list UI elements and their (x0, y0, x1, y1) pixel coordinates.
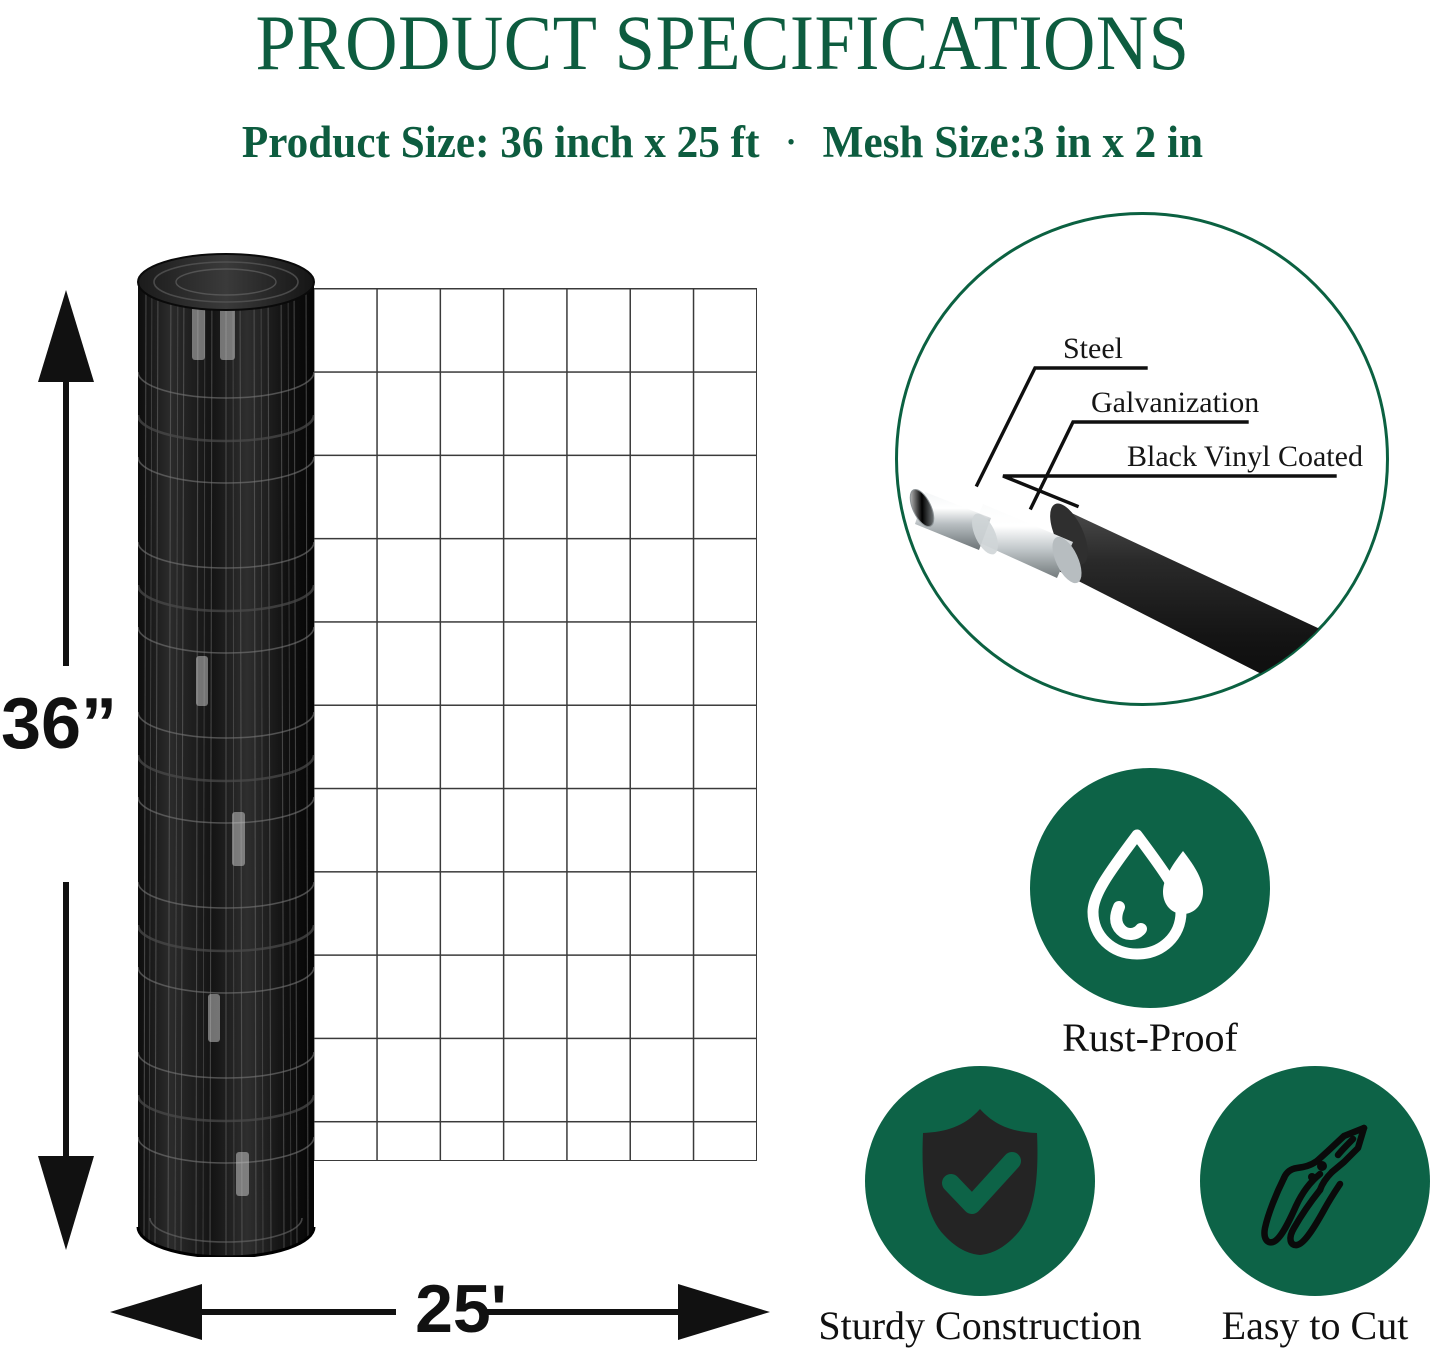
height-dimension-label: 36” (0, 686, 118, 762)
cutaway-label-steel: Steel (1063, 332, 1123, 366)
feature-label-sturdy-construction: Sturdy Construction (790, 1302, 1170, 1350)
height-dimension-arrow (0, 290, 130, 1250)
feature-label-easy-to-cut: Easy to Cut (1165, 1302, 1445, 1350)
badge-circle-rust-proof (1030, 768, 1270, 1008)
water-drop-icon (1075, 813, 1225, 963)
badge-circle-sturdy-construction (865, 1066, 1095, 1296)
shield-check-icon (909, 1105, 1051, 1257)
mesh-grid-sheet (313, 288, 757, 1161)
page-title: PRODUCT SPECIFICATIONS (51, 2, 1395, 84)
product-specification-infographic: PRODUCT SPECIFICATIONS Product Size: 36 … (0, 0, 1445, 1360)
feature-label-rust-proof: Rust-Proof (960, 1014, 1340, 1062)
width-dimension-label: 25' (396, 1272, 526, 1346)
badge-circle-easy-to-cut (1200, 1066, 1430, 1296)
feature-easy-to-cut: Easy to Cut (1165, 1066, 1445, 1350)
pliers-icon (1240, 1106, 1390, 1256)
product-size-text: Product Size: 36 inch x 25 ft (242, 117, 760, 167)
spec-separator-dot: · (770, 117, 812, 169)
feature-sturdy-construction: Sturdy Construction (790, 1066, 1170, 1350)
mesh-size-text: Mesh Size:3 in x 2 in (823, 117, 1203, 167)
feature-rust-proof: Rust-Proof (960, 768, 1340, 1062)
wire-mesh-roll (136, 252, 316, 1257)
cutaway-label-galvanization: Galvanization (1091, 386, 1259, 420)
cutaway-label-black-vinyl-coated: Black Vinyl Coated (1127, 440, 1363, 474)
wire-construction-cutaway: Steel Galvanization Black Vinyl Coated (895, 212, 1395, 712)
spec-subtitle: Product Size: 36 inch x 25 ft · Mesh Siz… (29, 116, 1416, 169)
